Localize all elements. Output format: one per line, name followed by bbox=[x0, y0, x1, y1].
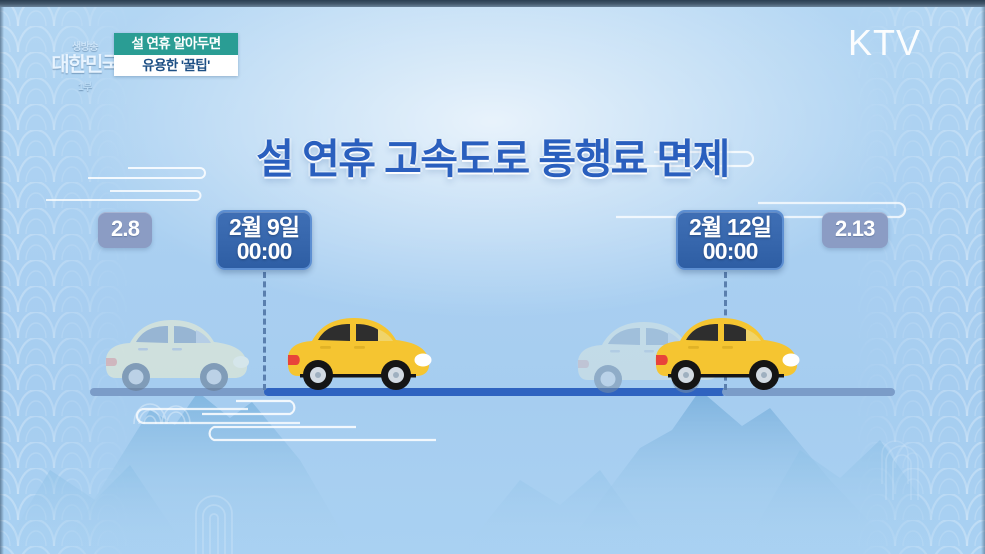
topic-banner: 설 연휴 알아두면 유용한 '꿀팁' bbox=[114, 33, 238, 76]
arc-ornament-left-lower bbox=[188, 480, 254, 554]
marker-start-date: 2월 9일 bbox=[229, 215, 299, 239]
broadcast-graphic-stage: 생방송 대한민국 1부 설 연휴 알아두면 유용한 '꿀팁' KTV 설 연휴 … bbox=[0, 0, 985, 554]
logo-part-label: 1부 bbox=[46, 78, 124, 93]
program-logo: 생방송 대한민국 1부 bbox=[46, 26, 124, 96]
timeline-start-date-label: 2.8 bbox=[98, 212, 152, 248]
timeline-marker-chip-start: 2월 9일 00:00 bbox=[216, 210, 312, 270]
cloud-line-ornament-far-right bbox=[128, 406, 308, 428]
logo-program-name: 대한민국 bbox=[46, 48, 124, 77]
topic-banner-line2: 유용한 '꿀팁' bbox=[114, 55, 238, 77]
top-border-band bbox=[0, 0, 985, 7]
vehicle-inactive-left bbox=[100, 300, 252, 392]
vehicle-active-left bbox=[282, 298, 434, 392]
vehicle-active-right bbox=[650, 298, 802, 392]
timeline-marker-chip-end: 2월 12일 00:00 bbox=[676, 210, 784, 270]
marker-end-date: 2월 12일 bbox=[689, 215, 771, 239]
topic-banner-line1: 설 연휴 알아두면 bbox=[114, 33, 238, 55]
arc-ornament-right-upper bbox=[878, 428, 922, 484]
timeline-end-date-label: 2.13 bbox=[822, 212, 888, 248]
marker-start-time: 00:00 bbox=[229, 239, 299, 263]
channel-watermark: KTV bbox=[848, 22, 921, 64]
cloud-line-ornament-lower-left bbox=[40, 190, 210, 204]
left-border-edge bbox=[0, 0, 4, 554]
page-title: 설 연휴 고속도로 통행료 면제 bbox=[0, 125, 985, 185]
timeline-marker-line-start bbox=[263, 272, 266, 390]
right-border-edge bbox=[981, 0, 985, 554]
marker-end-time: 00:00 bbox=[689, 239, 771, 263]
